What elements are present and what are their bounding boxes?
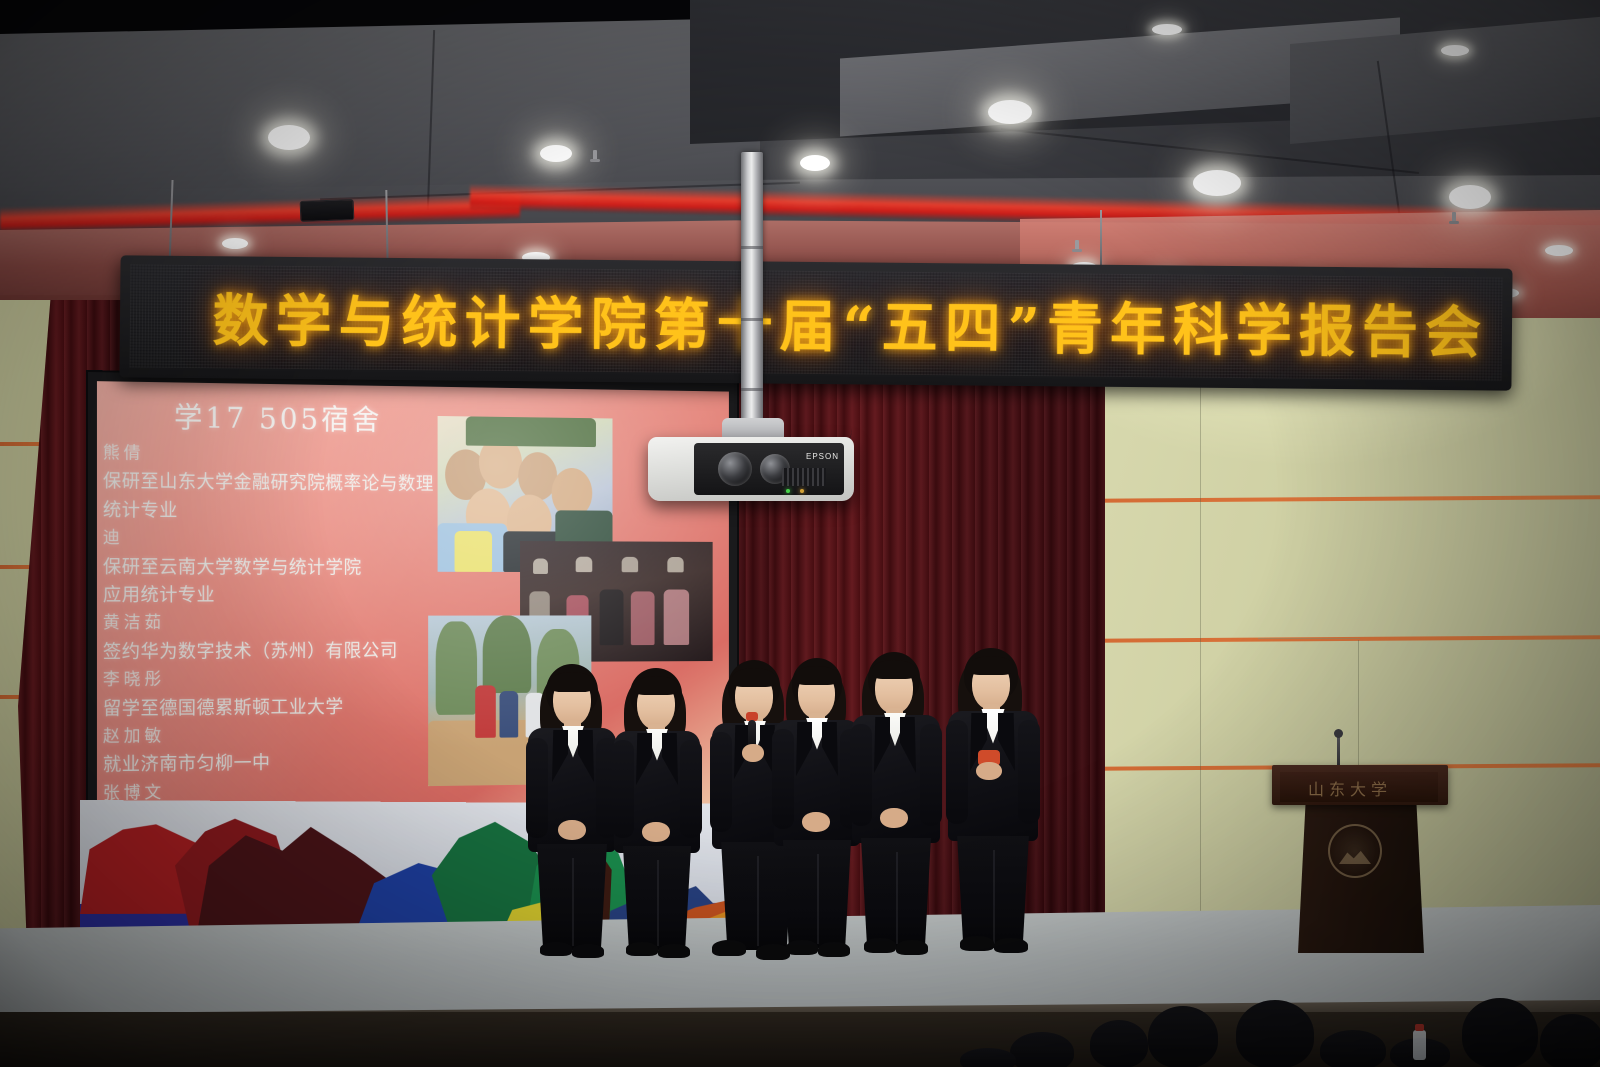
led-banner-text: 数学与统计学院第十届“五四”青年科学报告会: [212, 276, 1502, 369]
wall-seam: [1200, 318, 1201, 958]
projector-lens: [718, 452, 752, 486]
projector-vent: [782, 468, 826, 486]
shandong-university-emblem: [1328, 824, 1382, 878]
sprinkler-head: [1452, 212, 1456, 223]
sprinkler-head: [1075, 240, 1079, 251]
ceiling-downlight: [1449, 185, 1491, 209]
projector-pole-joint: [741, 318, 763, 321]
podium-microphone: [1337, 735, 1340, 769]
auditorium-scene: 学17 505宿舍 熊倩 保研至山东大学金融研究院概率论与数理 统计专业 迪 保…: [0, 0, 1600, 1067]
audience-head: [960, 1048, 1016, 1067]
audience-head: [1148, 1006, 1218, 1067]
audience-head: [1540, 1014, 1600, 1067]
ceiling-downlight: [1545, 245, 1573, 256]
projector-brand-label: EPSON: [806, 452, 839, 461]
ceiling-downlight: [1193, 170, 1241, 196]
audience-head: [1462, 998, 1538, 1067]
projector-pole-joint: [741, 388, 763, 391]
audience-head: [1010, 1032, 1074, 1067]
led-banner-screen: 数学与统计学院第十届“五四”青年科学报告会: [130, 264, 1503, 380]
projector-status-led: [800, 489, 804, 493]
water-bottle: [1413, 1030, 1426, 1060]
audience-head: [1236, 1000, 1314, 1067]
audience-head: [1320, 1030, 1386, 1067]
banner-suspension-wire: [1100, 210, 1102, 272]
audience-head: [1090, 1020, 1148, 1067]
ceiling-downlight: [800, 155, 830, 171]
ceiling-downlight: [988, 100, 1032, 124]
ceiling-downlight: [1441, 45, 1469, 56]
led-banner: 数学与统计学院第十届“五四”青年科学报告会: [119, 255, 1512, 390]
podium-label: 山东大学: [1308, 776, 1392, 800]
ceiling-speaker: [300, 199, 355, 222]
sprinkler-head: [593, 150, 597, 161]
ceiling-downlight: [1152, 24, 1182, 35]
wall-seam: [1258, 638, 1360, 639]
ceiling-downlight: [222, 238, 248, 249]
ceiling-downlight: [268, 125, 310, 150]
projector-status-led: [786, 489, 790, 493]
ceiling-downlight: [540, 145, 572, 162]
projector-pole-joint: [741, 246, 763, 249]
